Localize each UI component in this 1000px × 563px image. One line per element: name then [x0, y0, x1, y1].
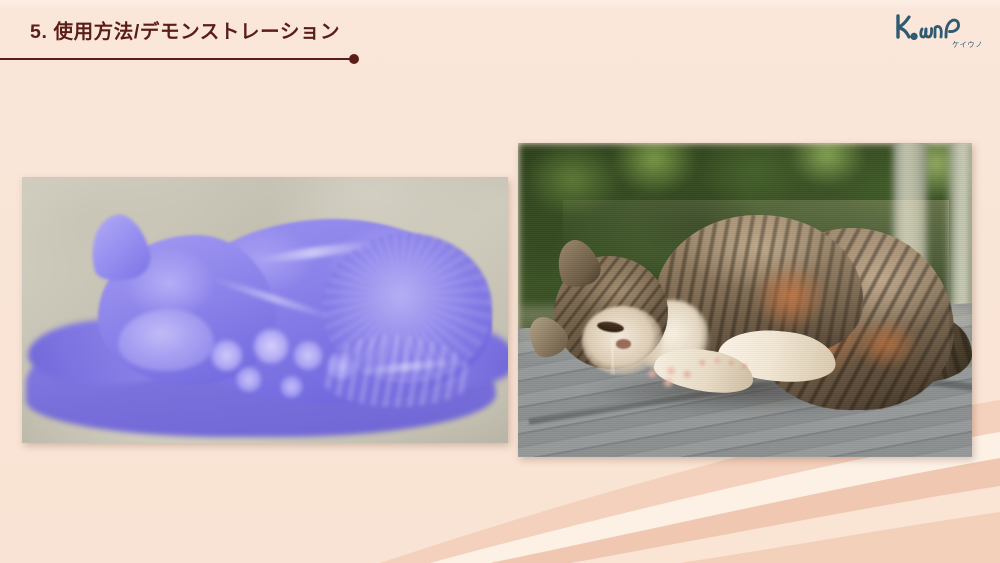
wax-photo-vignette [22, 177, 508, 443]
title-underline-dot-icon [349, 54, 359, 64]
brand-logo[interactable]: ケイウノ [892, 10, 986, 50]
slide-root: 5. 使用方法/デモンストレーション ケイウノ [0, 0, 1000, 563]
wax-cat-model-photo[interactable] [22, 177, 508, 443]
cat-ginger-patch-secondary [854, 319, 918, 369]
page-title: 5. 使用方法/デモンストレーション [30, 22, 340, 43]
real-cat-photo[interactable] [518, 143, 972, 457]
cat-ginger-patch [754, 262, 827, 331]
slide-header: 5. 使用方法/デモンストレーション [0, 0, 1000, 72]
cat-toes [691, 350, 755, 378]
svg-text:ケイウノ: ケイウノ [952, 40, 983, 49]
sleeping-tabby-cat [518, 143, 972, 457]
wax-cat-model-photo-inner [22, 177, 508, 443]
title-underline [0, 58, 353, 60]
brand-logo-icon: ケイウノ [892, 10, 986, 50]
real-cat-photo-inner [518, 143, 972, 457]
